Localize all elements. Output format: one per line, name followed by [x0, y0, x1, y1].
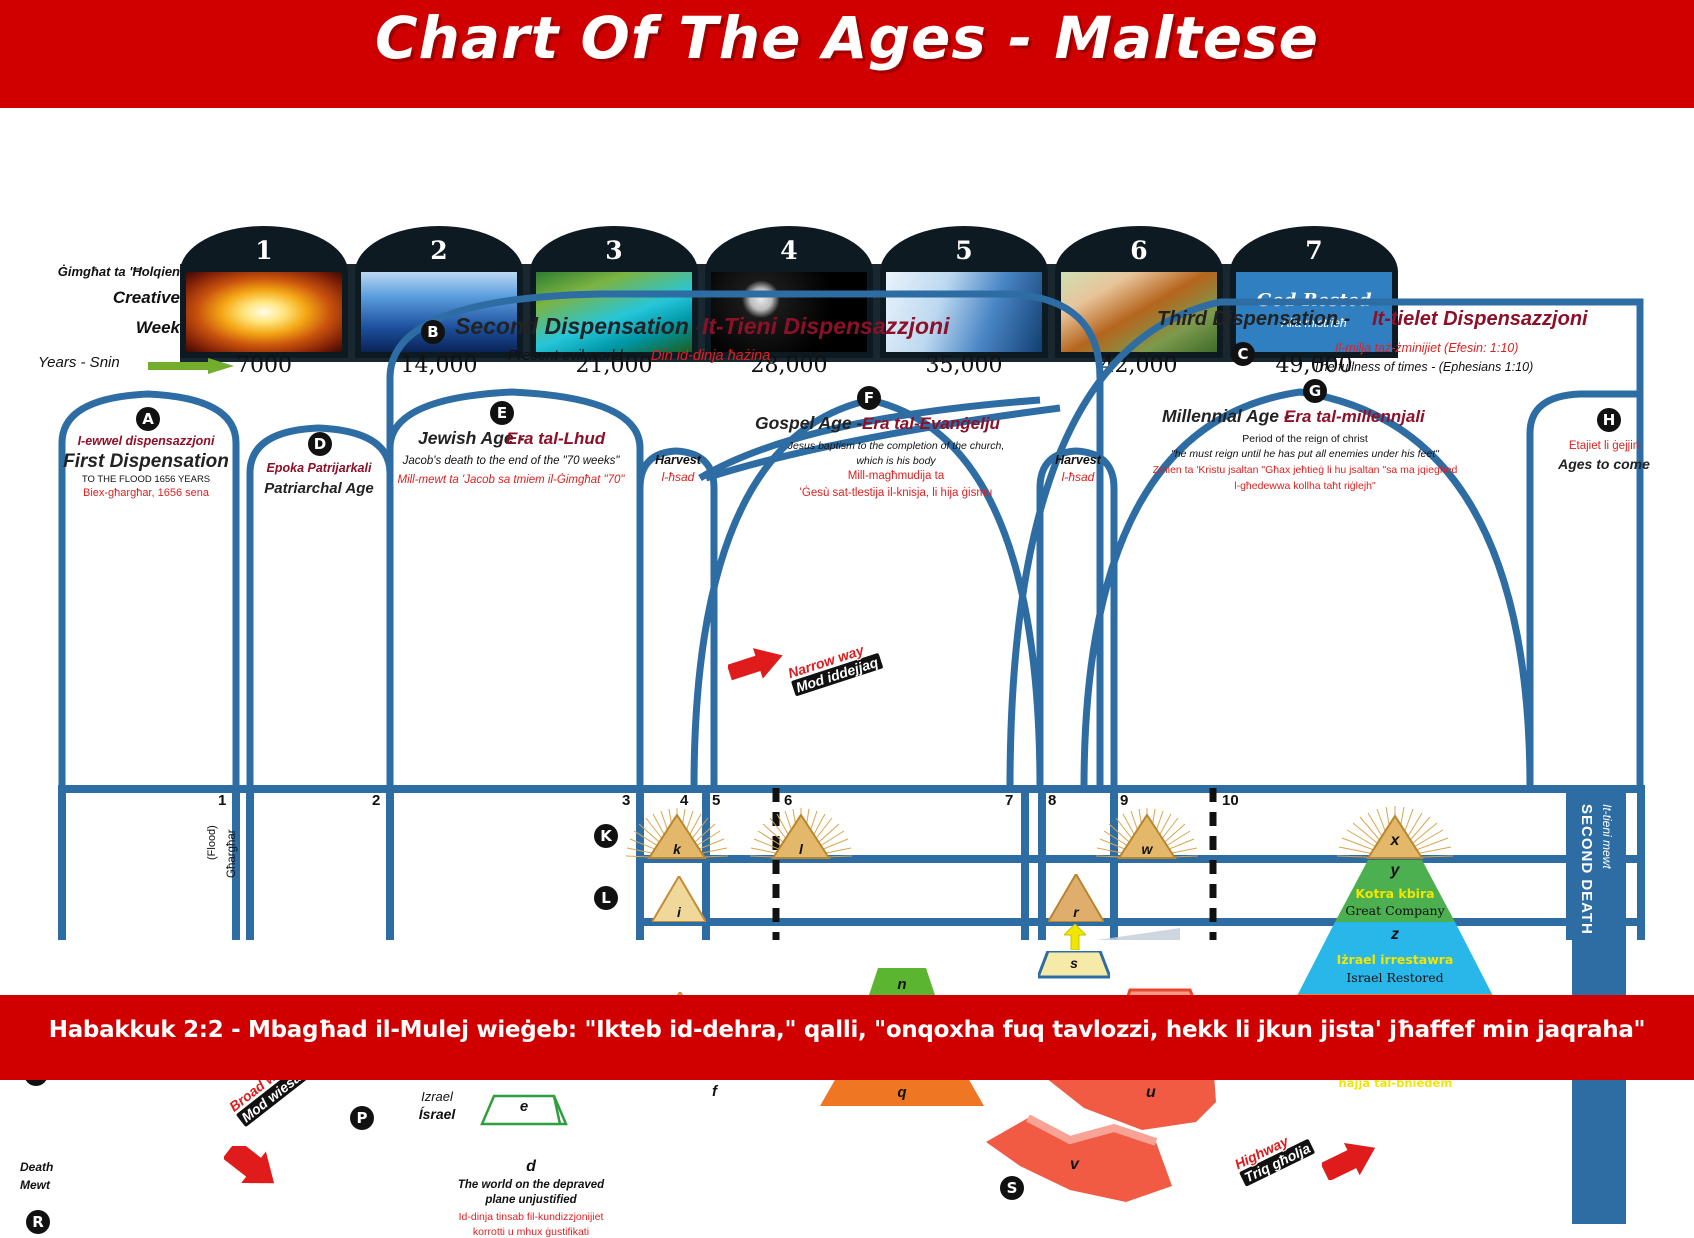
cross-icon-white — [650, 1078, 682, 1118]
creative-week-label-mt: Ġimgħat ta 'Ħolqien — [10, 264, 180, 279]
badge-A: A — [136, 407, 160, 431]
second-dispensation-sub-mt: Din id-dinja ħażina — [651, 348, 770, 364]
depraved-plane-letter: d — [390, 1158, 672, 1176]
triangle-k: k — [626, 806, 728, 859]
footer-banner: Habakkuk 2:2 - Mbagħad il-Mulej wieġeb: … — [0, 995, 1694, 1080]
depraved-plane-en-2: plane unjustified — [390, 1194, 672, 1206]
triangle-l: l — [750, 806, 852, 859]
gospel-age-sub-en-2: which is his body — [710, 455, 1082, 467]
column-number-8: 8 — [1048, 792, 1056, 809]
badge-L: L — [594, 886, 618, 910]
ages-to-come-title-en: Ages to come — [1524, 456, 1684, 472]
great-company-en: Great Company — [1230, 903, 1560, 918]
triangle-letter: k — [626, 841, 728, 857]
first-dispensation-title-en: First Dispensation — [36, 451, 256, 473]
badge-P: P — [350, 1106, 374, 1130]
up-arrow-icon — [1064, 924, 1086, 950]
triangle-i: i — [652, 876, 706, 922]
triangle-letter: w — [1096, 841, 1198, 857]
footer-verse: Habakkuk 2:2 - Mbagħad il-Mulej wieġeb: … — [0, 1017, 1694, 1043]
second-dispensation-sub-en: Present evil world - — [508, 348, 631, 364]
pyramid-level-q: q — [772, 1084, 1032, 1101]
badge-C: C — [1231, 342, 1255, 366]
chart-area: A I-ewwel dispensazzjoni First Dispensat… — [0, 288, 1694, 940]
jewish-age-sub-mt: Mill-mewt ta 'Jacob sa tmiem il-Ġimgħat … — [368, 474, 654, 486]
second-death-en: SECOND DEATH — [1578, 804, 1595, 935]
jewish-age-sub-en: Jacob's death to the end of the "70 week… — [380, 455, 642, 467]
badge-E: E — [490, 401, 514, 425]
badge-F: F — [857, 386, 881, 410]
depraved-plane-mt-1: Id-dinja tinsab fil-kundizzjonijiet — [380, 1211, 682, 1223]
millennial-level-z: z — [1230, 926, 1560, 944]
millennial-age-sub-en-1: Period of the reign of christ — [1110, 433, 1500, 445]
triangle-letter: l — [750, 841, 852, 857]
depraved-plane-en-1: The world on the depraved — [390, 1179, 672, 1191]
great-company-mt: Kotra kbira — [1230, 886, 1560, 901]
israel-trapezoid: e — [480, 1094, 568, 1126]
second-death-mt: It-tieni mewt — [1600, 804, 1614, 869]
triangle-w: w — [1096, 806, 1198, 859]
day-number: 7 — [1230, 236, 1398, 265]
day-number: 2 — [355, 236, 523, 265]
marker-letter: v — [1070, 1156, 1079, 1174]
day-number: 5 — [880, 236, 1048, 265]
third-dispensation-title-en: Third Dispensation - — [1157, 308, 1350, 331]
millennial-level-y: y — [1230, 862, 1560, 880]
page-title: Chart Of The Ages - Maltese — [0, 4, 1694, 72]
millennial-apex-letter: x — [1230, 832, 1560, 850]
triangle-letter: r — [1048, 904, 1104, 920]
day-number: 6 — [1055, 236, 1223, 265]
millennial-age-sub-mt-2: l-għedewwa kollha taħt riġlejh" — [1090, 480, 1520, 492]
second-dispensation-title-mt: It-Tieni Dispensazzjoni — [702, 313, 950, 340]
red-arrow-icon-broad — [224, 1146, 280, 1190]
badge-G: G — [1303, 379, 1327, 403]
badge-D: D — [308, 432, 332, 456]
column-number-2: 2 — [372, 792, 380, 809]
marker-f-left: f — [712, 1083, 717, 1100]
marker-letter: u — [1146, 1084, 1156, 1102]
day-number: 3 — [530, 236, 698, 265]
millennial-age-sub-mt-1: Zmien ta 'Kristu jsaltan "Għax jeħtieġ l… — [1070, 464, 1540, 476]
highway-label: Highway Triq għolja — [1232, 1124, 1316, 1187]
marker-v: v — [986, 1104, 1176, 1214]
first-dispensation-sub-mt: Biex-għargħar, 1656 sena — [36, 487, 256, 499]
badge-H: H — [1597, 408, 1621, 432]
badge-R: R — [26, 1210, 50, 1234]
column-number-7: 7 — [1005, 792, 1013, 809]
gospel-age-sub-en-1: Jesus baptism to the completion of the c… — [710, 440, 1082, 452]
day-number: 1 — [180, 236, 348, 265]
millennial-age-title-en: Millennial Age - — [1162, 406, 1290, 427]
marker-letter: s — [1038, 955, 1110, 971]
flood-label-en: (Flood) — [206, 825, 218, 860]
death-label-mt: Mewt — [20, 1178, 50, 1192]
triangle-letter: i — [652, 904, 706, 920]
badge-K: K — [594, 824, 618, 848]
gospel-age-sub-mt-1: Mill-magħmudija ta — [710, 470, 1082, 482]
gospel-age-title-mt: Era tal-Evanġelju — [862, 414, 1000, 434]
marker-s: s — [1038, 951, 1110, 979]
ages-to-come-title-mt: Etajiet li ġejjin — [1524, 440, 1684, 452]
israel-restored-mt: Iżrael irrestawra — [1230, 952, 1560, 967]
red-arrow-icon-narrow — [728, 646, 784, 682]
column-number-1: 1 — [218, 792, 226, 809]
creative-week-section: Ġimgħat ta 'Ħolqien Creative Week 1 2 3 … — [0, 108, 1694, 288]
flood-label-mt: Għargħar — [226, 829, 238, 878]
third-dispensation-title-mt: It-tielet Dispensazzjoni — [1372, 308, 1588, 331]
badge-B: B — [421, 320, 445, 344]
triangle-r: r — [1048, 874, 1104, 922]
jewish-age-title-mt: Era tal-Lhud — [506, 429, 605, 449]
day-number: 4 — [705, 236, 873, 265]
gospel-age-sub-mt-2: 'Ġesù sat-tlestija il-knisja, li hija ġi… — [690, 487, 1102, 499]
second-dispensation-title-en: Second Dispensation - — [455, 313, 703, 340]
israel-restored-en: Israel Restored — [1230, 970, 1560, 985]
israel-label-mt: Izrael — [392, 1089, 482, 1104]
millennial-age-sub-en-2: "he must reign until he has put all enem… — [1090, 448, 1520, 460]
pyramid-level-n: n — [772, 976, 1032, 993]
gospel-age-title-en: Gospel Age - — [755, 413, 862, 434]
millennial-age-title-mt: Era tal-millennjali — [1284, 407, 1425, 427]
first-dispensation-title-mt: I-ewwel dispensazzjoni — [36, 434, 256, 448]
third-dispensation-sub-en: The fullness of times - (Ephesians 1:10) — [1313, 360, 1533, 374]
third-dispensation-sub-mt: Il-milja taż-żminijiet (Efesin: 1:10) — [1335, 341, 1518, 355]
patriarchal-age-title-mt: Epoka Patrijarkali — [236, 461, 402, 475]
israel-label-en: Ísrael — [392, 1106, 482, 1122]
red-arrow-icon-highway — [1322, 1140, 1378, 1180]
title-banner: Chart Of The Ages - Maltese — [0, 0, 1694, 108]
depraved-plane-mt-2: korrotti u mhux ġustifikati — [380, 1226, 682, 1238]
first-dispensation-sub-en: TO THE FLOOD 1656 YEARS — [36, 474, 256, 485]
marker-letter-e: e — [480, 1098, 568, 1115]
death-label-en: Death — [20, 1160, 53, 1174]
